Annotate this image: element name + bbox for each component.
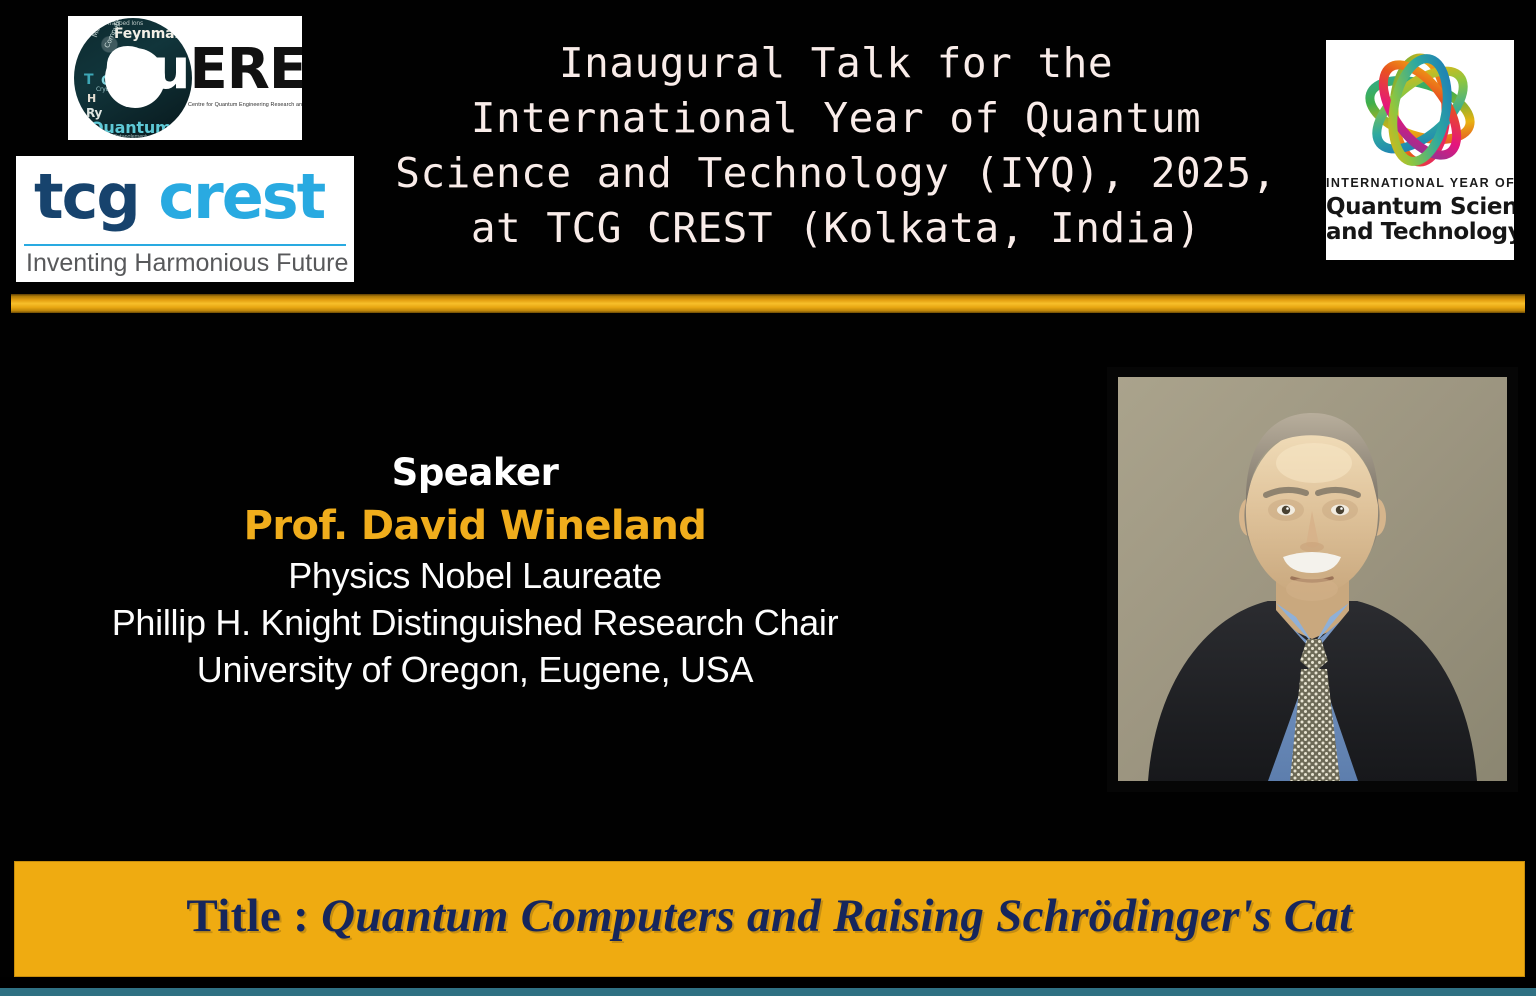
bottom-black-gap [0, 977, 1536, 988]
slide-header: Trapped Ions Feynman Measurement Computi… [0, 0, 1536, 293]
speaker-chair: Phillip H. Knight Distinguished Research… [60, 599, 890, 646]
tcg-tagline: Inventing Harmonious Future [26, 249, 348, 278]
header-title-line-4: at TCG CREST (Kolkata, India) [356, 201, 1316, 256]
wordcloud-word-trapped-ions: Trapped Ions [107, 20, 143, 27]
talk-title-label: Title : [186, 890, 321, 942]
quere-wordmark: QuERE [104, 42, 302, 98]
talk-title-bar: Title : Quantum Computers and Raising Sc… [14, 861, 1525, 977]
header-title-line-2: International Year of Quantum [356, 91, 1316, 146]
wordcloud-word-quantum: Quantum [90, 118, 172, 137]
header-title-line-1: Inaugural Talk for the [356, 36, 1316, 91]
quere-wordmark-ere: ERE [189, 37, 302, 102]
speaker-photo [1118, 377, 1507, 781]
bottom-teal-strip [0, 988, 1536, 996]
portrait-illustration [1118, 377, 1507, 781]
tcg-crest-wordmark: tcg crest [34, 164, 324, 229]
iyq-knot-icon [1344, 46, 1496, 174]
wordcloud-word-t: T [84, 72, 93, 88]
quere-logo-inner: Trapped Ions Feynman Measurement Computi… [68, 16, 302, 140]
speaker-block: Speaker Prof. David Wineland Physics Nob… [60, 450, 890, 693]
tcg-crest-logo: tcg crest Inventing Harmonious Future [16, 156, 354, 282]
quere-logo-subtitle: Centre for Quantum Engineering Research … [188, 102, 302, 108]
iyq-logo: INTERNATIONAL YEAR OF Quantum Science an… [1326, 40, 1514, 260]
wordcloud-word-entanglement: Entanglement [114, 134, 147, 138]
header-title-line-3: Science and Technology (IYQ), 2025, [356, 146, 1316, 201]
talk-title: Title : Quantum Computers and Raising Sc… [14, 889, 1525, 943]
speaker-affiliation: University of Oregon, Eugene, USA [60, 646, 890, 693]
quere-wordmark-qu: Qu [104, 37, 189, 102]
iyq-logo-title: Quantum Science and Technology [1326, 195, 1514, 245]
wordcloud-word-h: H [87, 92, 96, 105]
iyq-logo-line-3: and Technology [1326, 220, 1514, 245]
iyq-logo-line-2: Quantum Science [1326, 195, 1514, 220]
wordcloud-word-measurement: Measurement [91, 18, 113, 38]
quere-logo: Trapped Ions Feynman Measurement Computi… [68, 16, 302, 140]
speaker-photo-frame [1107, 367, 1518, 792]
wordcloud-word-ry: Ry [86, 106, 102, 120]
tcg-wordmark-crest: crest [158, 160, 324, 233]
header-title: Inaugural Talk for the International Yea… [356, 36, 1316, 256]
gold-divider-bar [11, 294, 1525, 313]
speaker-credential: Physics Nobel Laureate [60, 552, 890, 599]
tcg-divider-rule [24, 244, 346, 246]
presentation-slide: Trapped Ions Feynman Measurement Computi… [0, 0, 1536, 996]
speaker-heading: Speaker [60, 450, 890, 496]
speaker-name: Prof. David Wineland [60, 500, 890, 552]
iyq-logo-line-1: INTERNATIONAL YEAR OF [1326, 176, 1514, 190]
talk-title-text: Quantum Computers and Raising Schrödinge… [321, 890, 1352, 942]
tcg-wordmark-tcg: tcg [34, 160, 139, 233]
